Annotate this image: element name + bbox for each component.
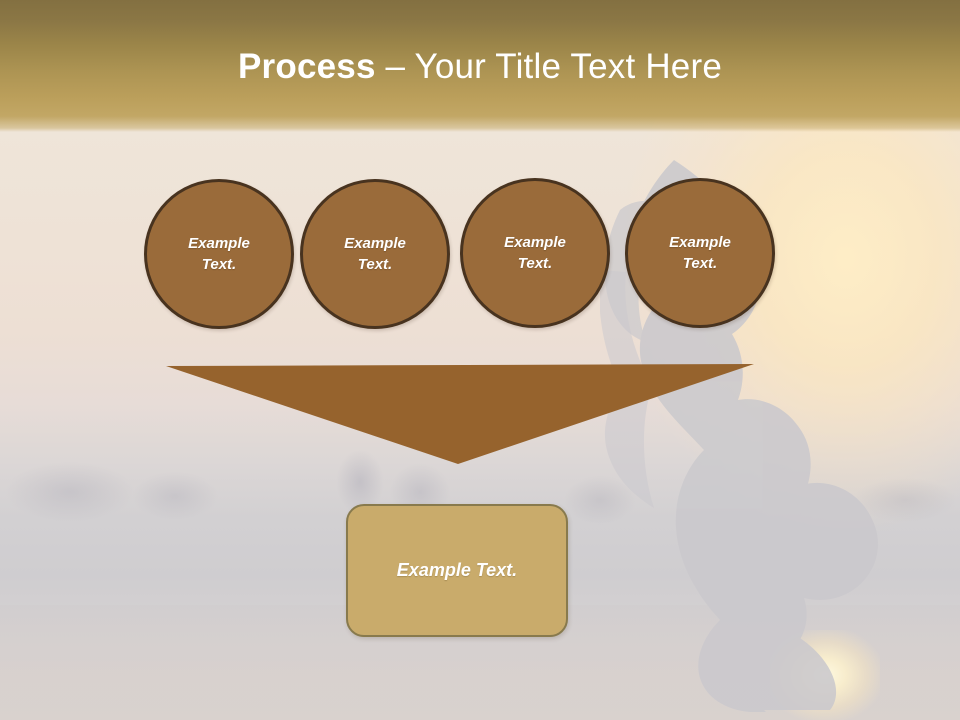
process-step-circle-2[interactable]: Example Text.: [300, 179, 450, 329]
page-title: Process – Your Title Text Here: [0, 46, 960, 88]
title-band: Process – Your Title Text Here: [0, 0, 960, 132]
process-step-label-1: Example Text.: [188, 233, 250, 275]
process-step-label-2: Example Text.: [344, 233, 406, 275]
page-title-rest: – Your Title Text Here: [376, 47, 722, 86]
slide-canvas: Process – Your Title Text Here Example T…: [0, 0, 960, 720]
result-box-label: Example Text.: [397, 560, 517, 581]
process-step-circle-3[interactable]: Example Text.: [460, 178, 610, 328]
result-box[interactable]: Example Text.: [346, 504, 568, 637]
process-step-circle-1[interactable]: Example Text.: [144, 179, 294, 329]
process-step-label-4: Example Text.: [669, 232, 731, 274]
process-step-circle-4[interactable]: Example Text.: [625, 178, 775, 328]
down-arrow-icon[interactable]: [160, 360, 760, 472]
process-step-label-3: Example Text.: [504, 232, 566, 274]
page-title-bold: Process: [238, 47, 376, 86]
